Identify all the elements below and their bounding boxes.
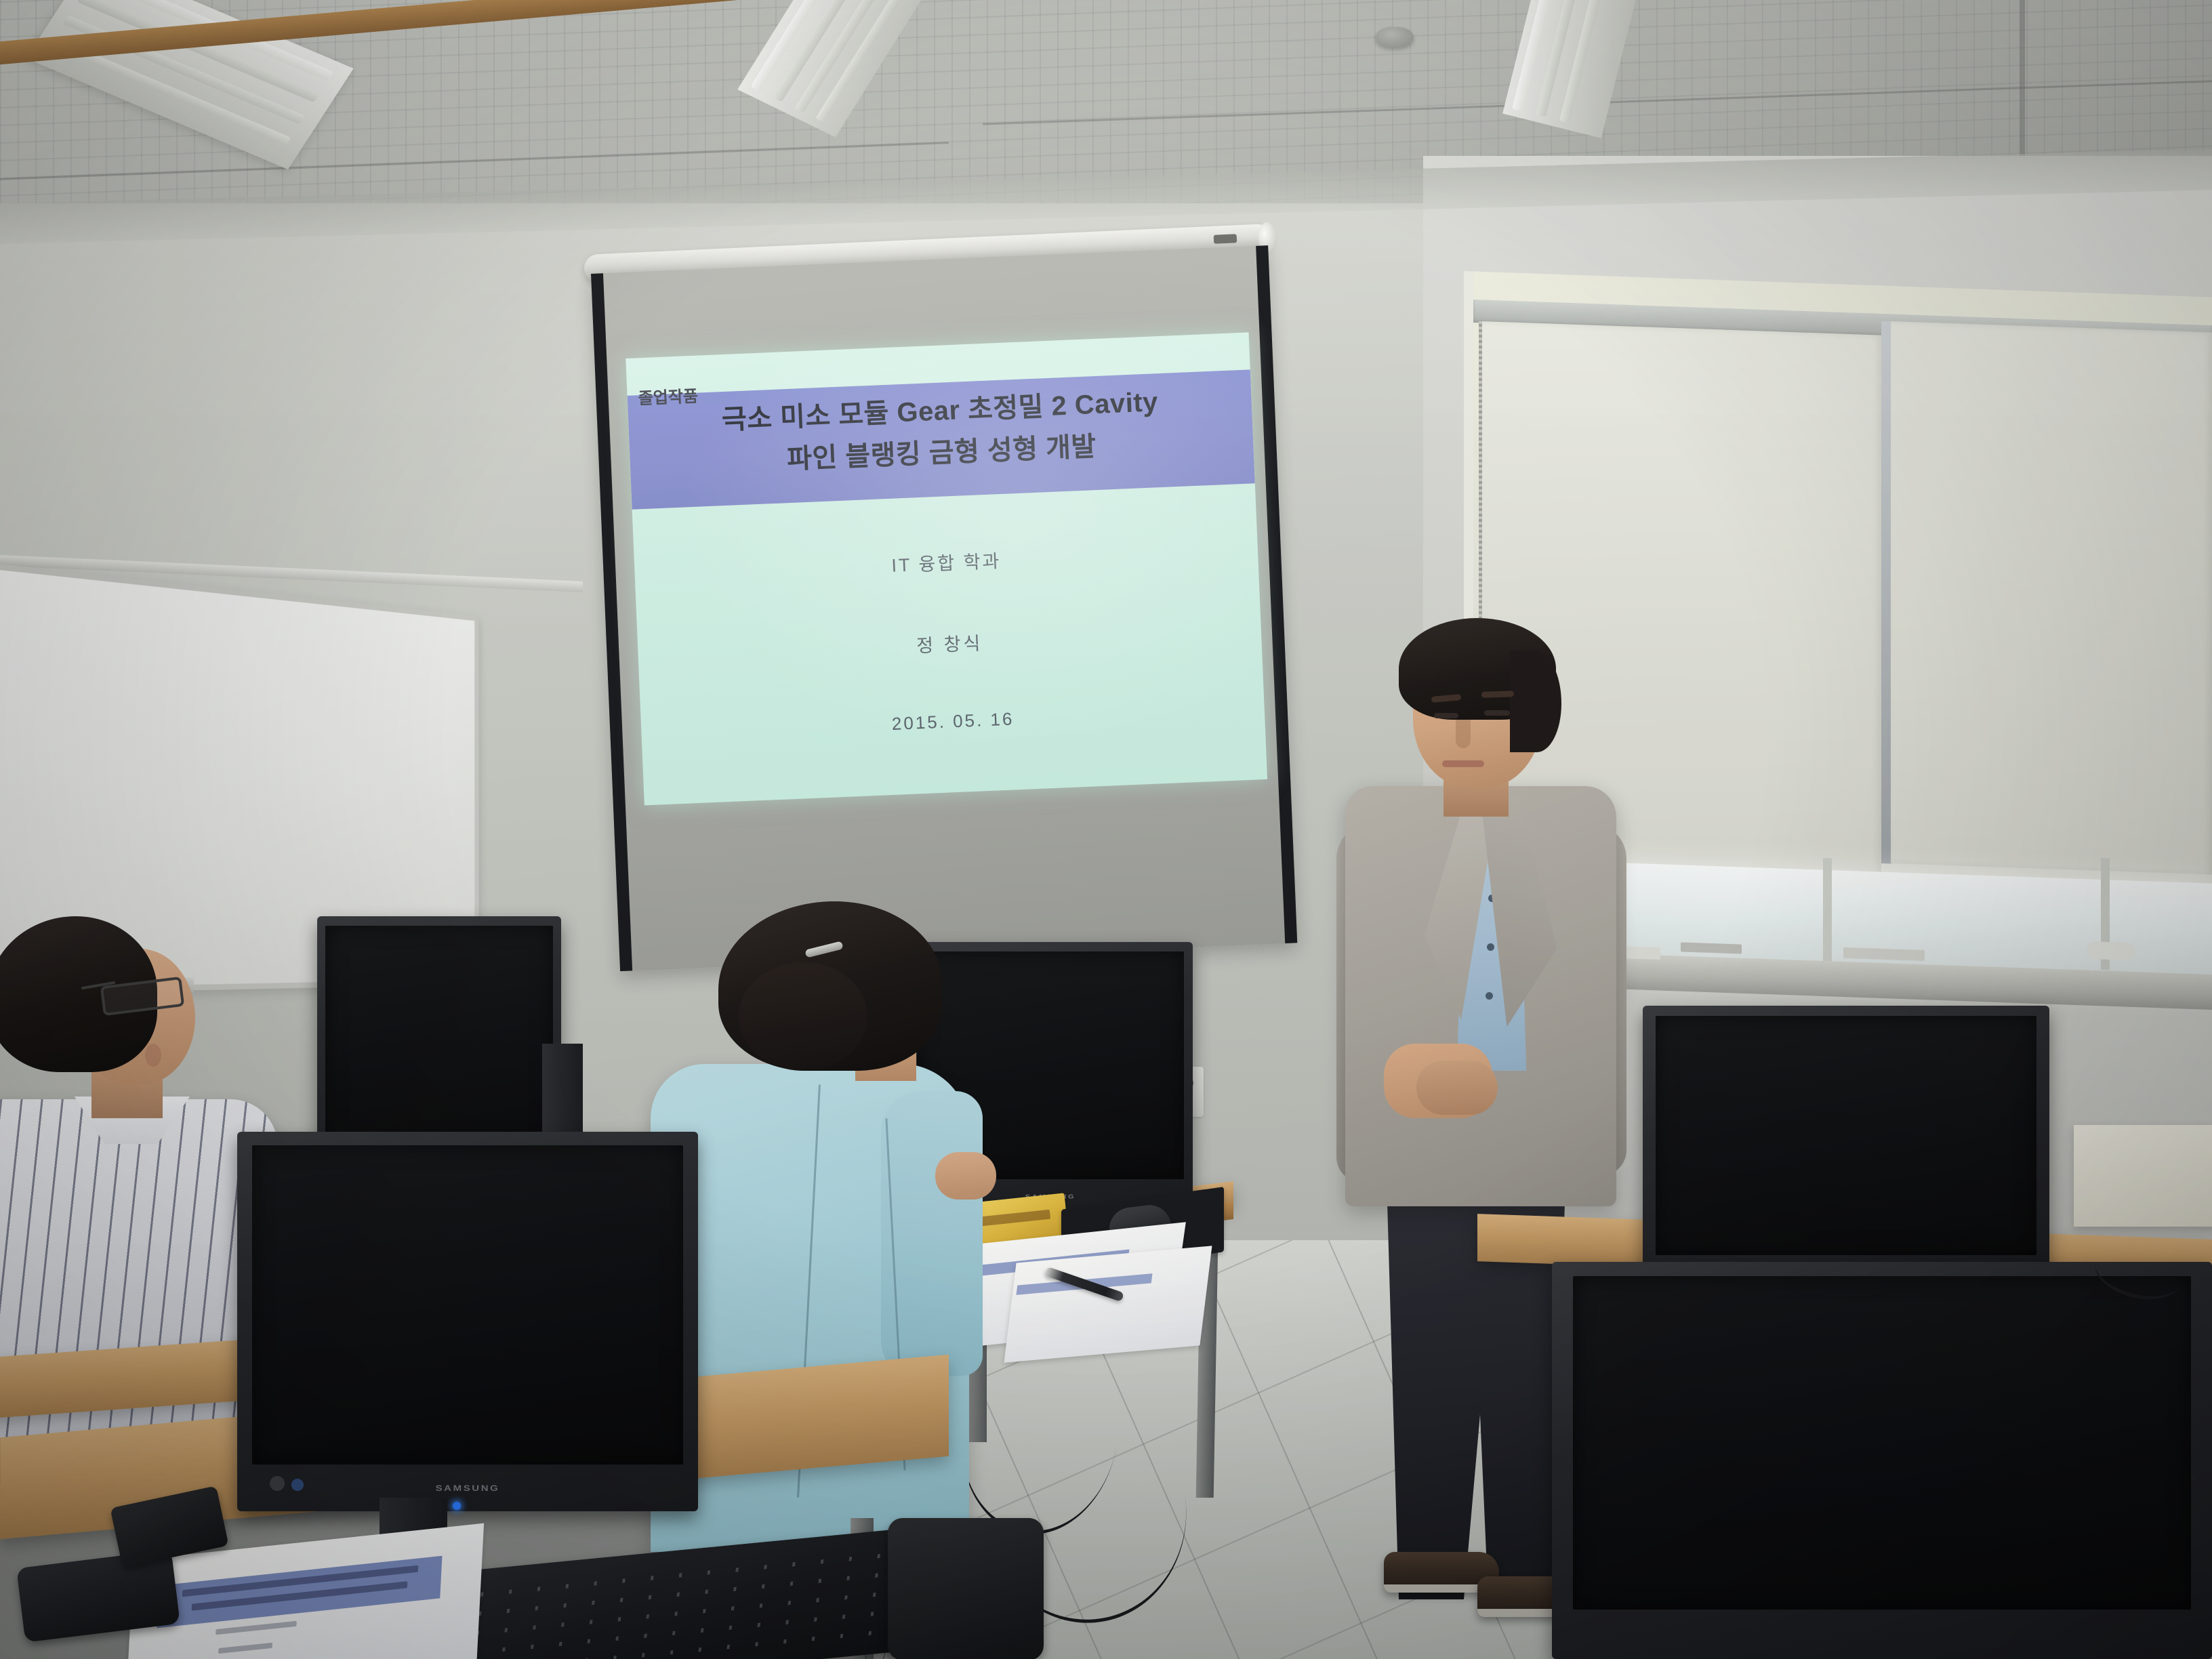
classroom-presentation-photo: 졸업작품 극소 미소 모듈 Gear 초정밀 2 Cavity 파인 블랭킹 금… [0, 0, 2212, 1659]
attendee-left-ear [145, 1044, 161, 1067]
monitor-screen[interactable] [1656, 1016, 2036, 1255]
presenter-mouth [1442, 760, 1484, 767]
monitor-power-led [453, 1502, 461, 1510]
projection-screen: 졸업작품 극소 미소 모듈 Gear 초정밀 2 Cavity 파인 블랭킹 금… [591, 245, 1297, 971]
slide-date: 2015. 05. 16 [641, 698, 1265, 745]
window-mullion [1823, 858, 1832, 970]
presenter-eye-right [1484, 710, 1510, 716]
monitor-screen[interactable] [325, 926, 554, 1153]
presenter-eyebrow-right [1481, 691, 1514, 698]
shirt-button [1487, 943, 1494, 951]
presenter-eye-left [1434, 713, 1458, 718]
monitor-brand-logo: SAMSUNG [436, 1484, 500, 1493]
presenter-hand-right [1416, 1061, 1498, 1115]
attendee-center-hair-bun [739, 962, 867, 1071]
smoke-detector-icon [1376, 27, 1414, 47]
presenter-nose [1456, 720, 1471, 748]
monitor-chin: SAMSUNG [237, 1466, 698, 1511]
slide-presenter-name: 정 창식 [638, 617, 1262, 669]
cardboard-box [2074, 1125, 2212, 1227]
monitor-back-right[interactable]: SAMSUNG [1643, 1006, 2049, 1290]
sill-item [2087, 941, 2135, 960]
monitor-foreground-left[interactable]: SAMSUNG [237, 1132, 698, 1511]
monitor-screen[interactable] [252, 1145, 683, 1464]
slide-department: IT 융합 학과 [634, 535, 1258, 588]
roller-blind-right[interactable] [1891, 321, 2212, 875]
presenter-hair-side [1510, 651, 1561, 752]
monitor-chin: SAMSUNG [1552, 1612, 2212, 1659]
bag[interactable] [888, 1518, 1044, 1659]
roller-mount-bracket [1214, 234, 1237, 244]
monitor-screen[interactable] [1573, 1276, 2191, 1610]
projected-slide: 졸업작품 극소 미소 모듈 Gear 초정밀 2 Cavity 파인 블랭킹 금… [626, 332, 1267, 805]
attendee-center-hand [935, 1152, 996, 1200]
monitor-foreground-right[interactable]: SAMSUNG [1552, 1262, 2212, 1659]
shirt-button [1486, 992, 1493, 1000]
